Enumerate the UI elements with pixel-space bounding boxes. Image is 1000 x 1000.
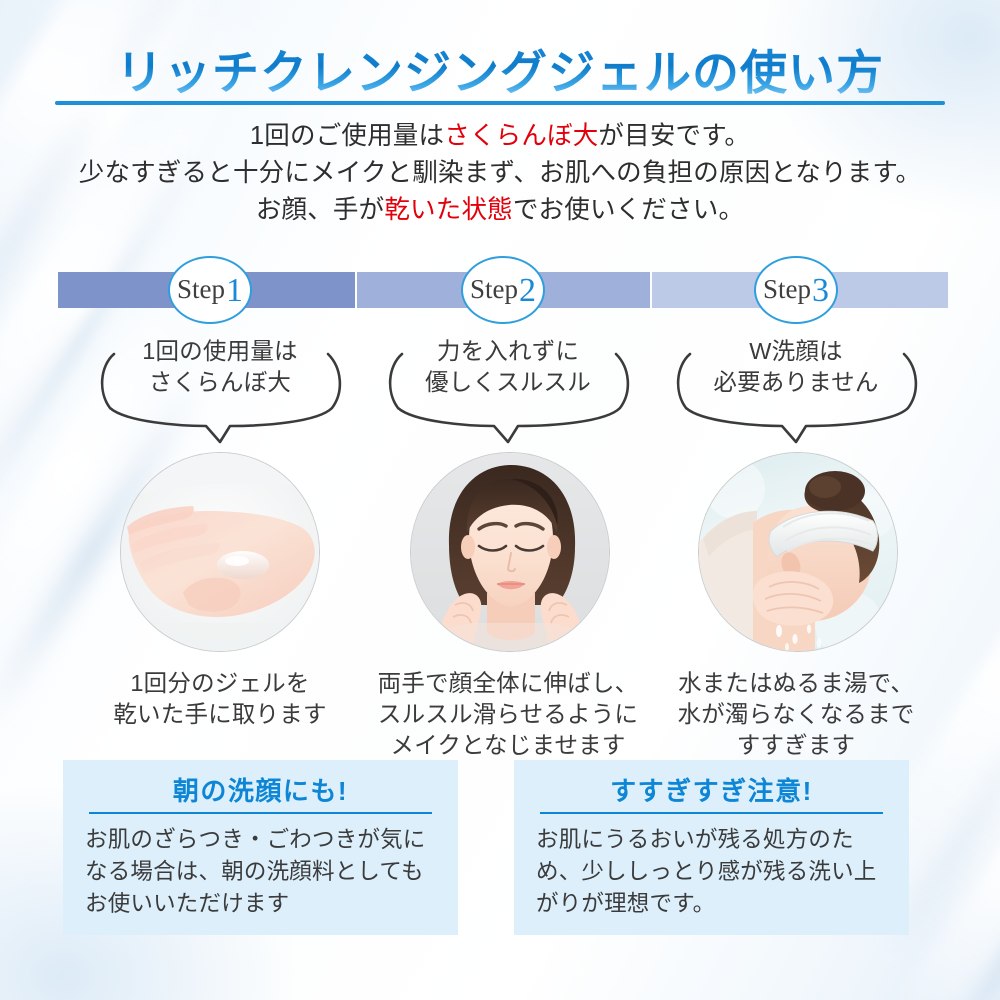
step-2-caption-line-3: メイクとなじませます: [358, 730, 658, 761]
note-box-2-line-3: がりが理想です。: [536, 888, 887, 920]
lead-line-1-post: が目安です。: [598, 122, 750, 150]
step-3-caption-line-3: すすぎます: [646, 730, 946, 761]
lead-highlight-dry: 乾いた状態: [384, 196, 513, 224]
step-badge-1: Step1: [168, 256, 252, 324]
note-box-1-line-2: なる場合は、朝の洗顔料としても: [85, 856, 436, 888]
step-3-caption: 水またはぬるま湯で、 水が濁らなくなるまで すすぎます: [646, 668, 946, 761]
step-3-bubble-line-2: 必要ありません: [646, 367, 946, 398]
step-3-caption-line-1: 水またはぬるま湯で、: [646, 668, 946, 699]
step-1-caption-line-1: 1回分のジェルを: [70, 668, 370, 699]
step-badge-1-number: 1: [226, 272, 243, 310]
step-2-bubble-line-1: 力を入れずに: [358, 336, 658, 367]
step-column-2: 力を入れずに 優しくスルスル: [358, 336, 658, 444]
note-box-2-line-2: め、少ししっとり感が残る洗い上: [536, 856, 887, 888]
step-2-caption: 両手で顔全体に伸ばし、 スルスル滑らせるように メイクとなじませます: [358, 668, 658, 761]
woman-rinsing-face-photo: [698, 452, 898, 652]
step-2-caption-line-1: 両手で顔全体に伸ばし、: [358, 668, 658, 699]
lead-line-1-pre: 1回のご使用量は: [250, 122, 444, 150]
step-2-speech-bubble: 力を入れずに 優しくスルスル: [358, 336, 658, 444]
step-2-caption-line-2: スルスル滑らせるように: [358, 699, 658, 730]
step-1-caption-line-2: 乾いた手に取ります: [70, 699, 370, 730]
lead-line-3-pre: お顔、手が: [256, 196, 385, 224]
step-2-bubble-line-2: 優しくスルスル: [358, 367, 658, 398]
step-1-speech-bubble: 1回の使用量は さくらんぼ大: [70, 336, 370, 444]
step-1-bubble-line-1: 1回の使用量は: [70, 336, 370, 367]
lead-line-3: お顔、手が乾いた状態でお使いください。: [0, 192, 1000, 229]
step-2-bubble-text: 力を入れずに 優しくスルスル: [358, 336, 658, 398]
palm-with-gel-photo: [120, 452, 320, 652]
title-underline-rule: [55, 101, 945, 105]
step-badge-3-label: Step: [763, 274, 811, 305]
note-box-2-body: お肌にうるおいが残る処方のた め、少ししっとり感が残る洗い上 がりが理想です。: [536, 824, 887, 920]
woman-face-hands-on-cheeks-photo: [410, 452, 610, 652]
step-1-caption: 1回分のジェルを 乾いた手に取ります: [70, 668, 370, 730]
step-badge-2-label: Step: [470, 274, 518, 305]
step-badge-1-label: Step: [177, 274, 225, 305]
note-box-morning-wash: 朝の洗顔にも! お肌のざらつき・ごわつきが気に なる場合は、朝の洗顔料としても …: [63, 760, 458, 935]
lead-line-3-post: でお使いください。: [513, 196, 744, 224]
page-title: リッチクレンジングジェルの使い方: [0, 34, 1000, 103]
note-box-1-body: お肌のざらつき・ごわつきが気に なる場合は、朝の洗顔料としても お使いいただけま…: [85, 824, 436, 920]
step-3-bubble-line-1: W洗顔は: [646, 336, 946, 367]
note-box-2-heading: すすぎすぎ注意!: [536, 774, 887, 808]
lead-highlight-amount: さくらんぼ大: [444, 122, 598, 150]
note-box-1-rule: [89, 812, 432, 814]
lead-line-1: 1回のご使用量はさくらんぼ大が目安です。: [0, 118, 1000, 155]
note-box-over-rinsing-warning: すすぎすぎ注意! お肌にうるおいが残る処方のた め、少ししっとり感が残る洗い上 …: [514, 760, 909, 935]
note-box-2-line-1: お肌にうるおいが残る処方のた: [536, 824, 887, 856]
note-box-1-heading: 朝の洗顔にも!: [85, 774, 436, 808]
step-badge-3-number: 3: [812, 272, 829, 310]
note-box-1-line-1: お肌のざらつき・ごわつきが気に: [85, 824, 436, 856]
step-1-bubble-line-2: さくらんぼ大: [70, 367, 370, 398]
step-3-bubble-text: W洗顔は 必要ありません: [646, 336, 946, 398]
lead-paragraph: 1回のご使用量はさくらんぼ大が目安です。 少なすぎると十分にメイクと馴染まず、お…: [0, 118, 1000, 229]
step-3-speech-bubble: W洗顔は 必要ありません: [646, 336, 946, 444]
step-1-bubble-text: 1回の使用量は さくらんぼ大: [70, 336, 370, 398]
step-badge-3: Step3: [754, 256, 838, 324]
step-3-caption-line-2: 水が濁らなくなるまで: [646, 699, 946, 730]
step-progress-bar: Step1 Step2 Step3: [58, 272, 948, 308]
note-box-2-rule: [540, 812, 883, 814]
lead-line-2: 少なすぎると十分にメイクと馴染まず、お肌への負担の原因となります。: [0, 155, 1000, 192]
step-column-1: 1回の使用量は さくらんぼ大: [70, 336, 370, 444]
step-badge-2-number: 2: [519, 272, 536, 310]
note-box-1-line-3: お使いいただけます: [85, 888, 436, 920]
step-badge-2: Step2: [461, 256, 545, 324]
step-column-3: W洗顔は 必要ありません: [646, 336, 946, 444]
